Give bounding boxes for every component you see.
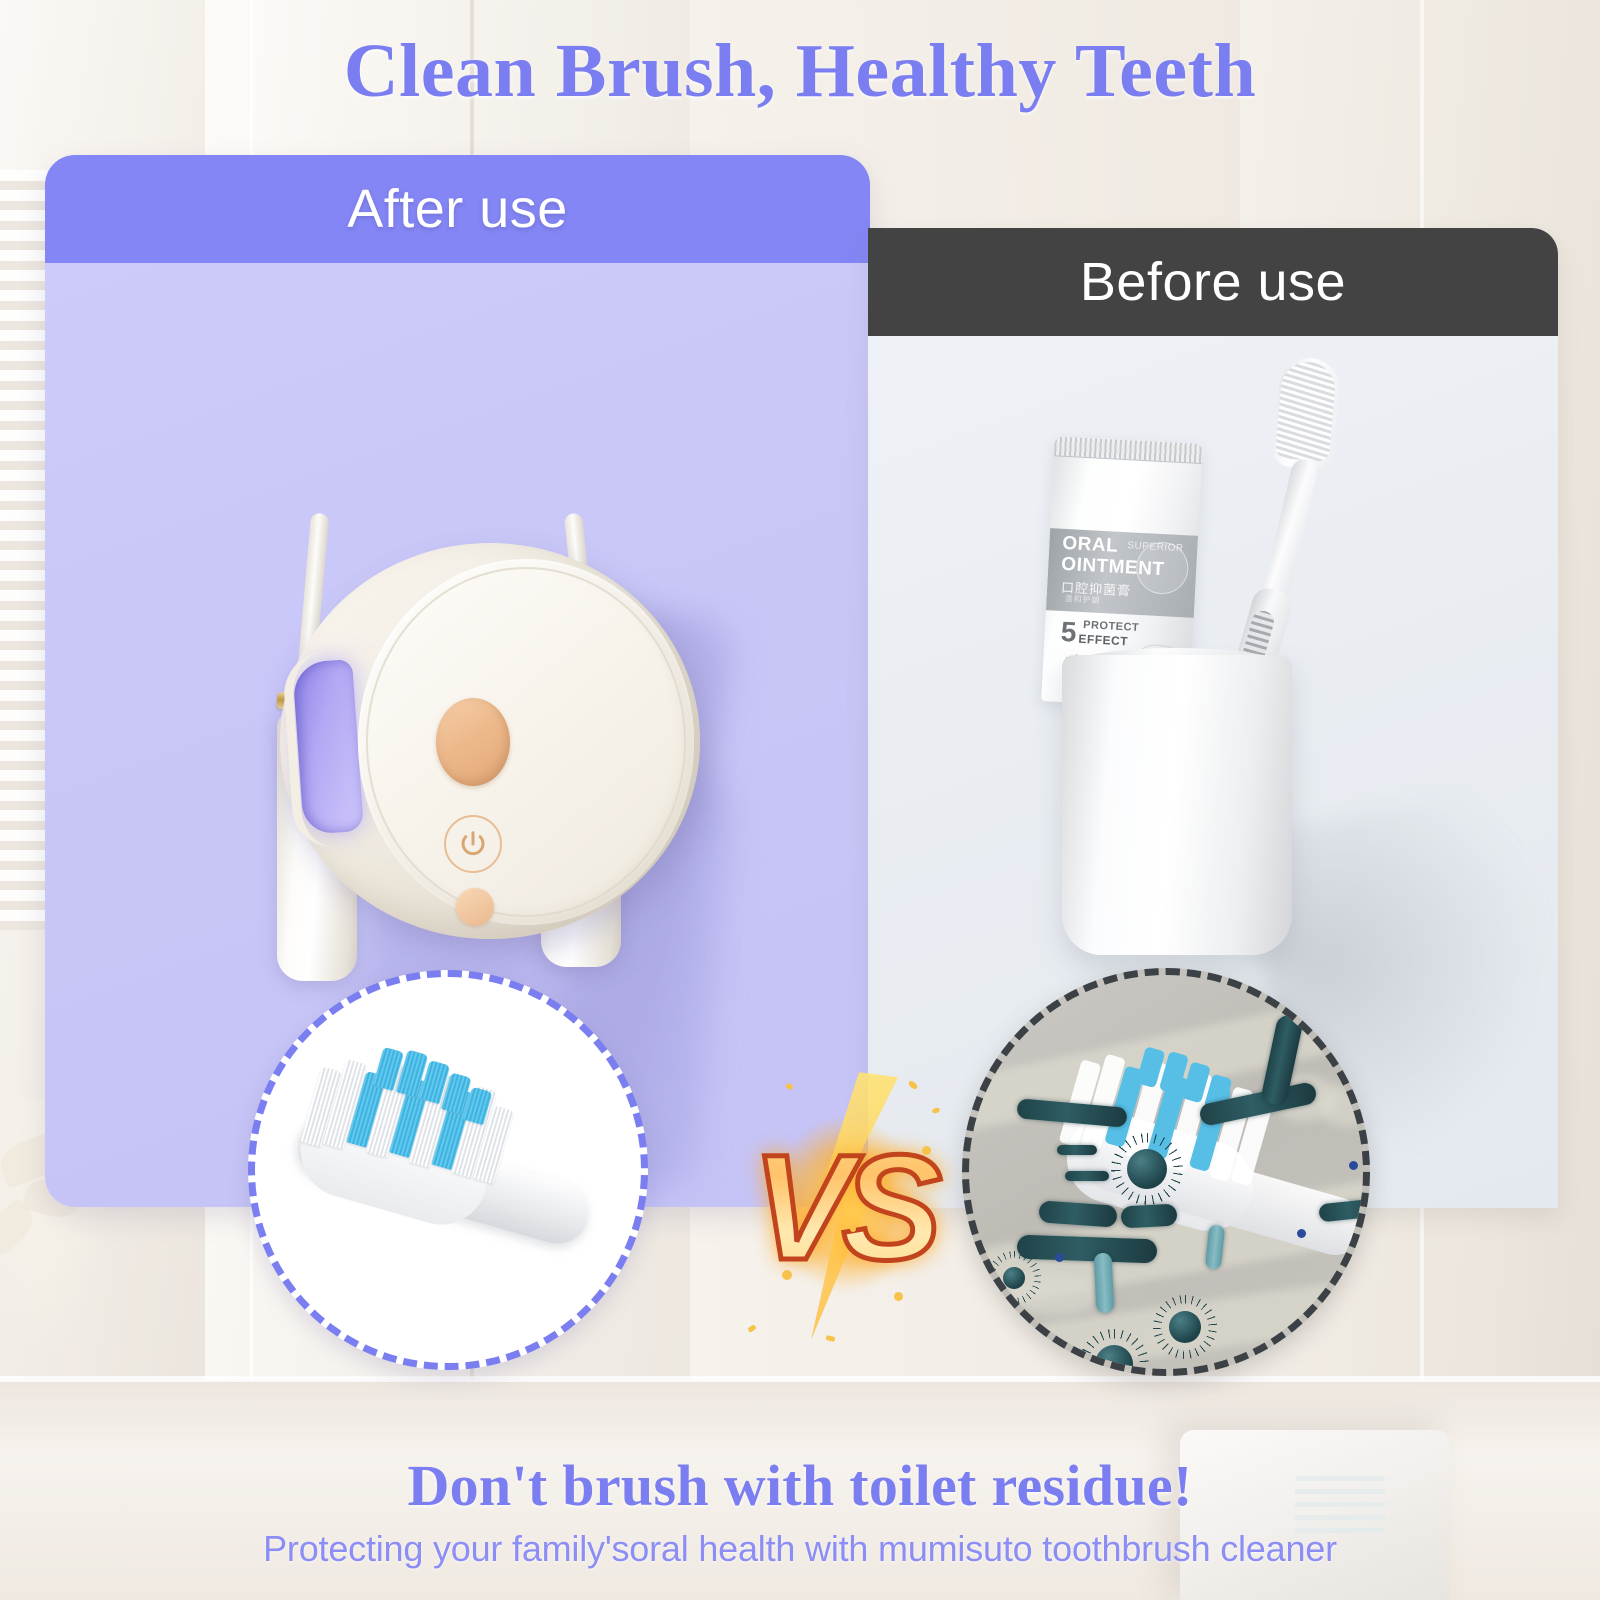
germ-icon [1127, 1149, 1167, 1189]
contaminated-brush-closeup [962, 968, 1370, 1376]
page-title: Clean Brush, Healthy Teeth [0, 28, 1600, 115]
toothbrush-cup [1062, 655, 1292, 955]
spark-particle [850, 1226, 856, 1232]
brush-neck [1260, 457, 1319, 609]
vs-badge: VS [726, 1060, 958, 1350]
brush-bristles [1275, 360, 1337, 462]
microscopy-texture [1319, 1085, 1370, 1127]
device-accent-oval [436, 698, 510, 786]
bacteria-rod [1093, 1253, 1114, 1314]
after-use-header: After use [45, 155, 870, 263]
bacteria-rod [1120, 1204, 1177, 1229]
before-use-header: Before use [868, 228, 1558, 336]
clean-brush-closeup [248, 970, 648, 1370]
tube-claim-number: 5 [1060, 619, 1077, 645]
germ-icon [1003, 1267, 1025, 1289]
spark-particle [922, 1146, 931, 1155]
after-use-label: After use [347, 178, 568, 240]
bacteria-rod [1017, 1235, 1158, 1264]
manual-toothbrush [1243, 358, 1363, 688]
bacteria-rod [1038, 1200, 1117, 1227]
before-use-label: Before use [1080, 251, 1346, 313]
spark-particle [826, 1335, 836, 1342]
spark-particle [782, 1270, 792, 1280]
power-icon[interactable] [444, 815, 502, 873]
footer-headline: Don't brush with toilet residue! [0, 1452, 1600, 1519]
bacteria-rod [1065, 1171, 1109, 1181]
microscopy-dot [1297, 1229, 1306, 1238]
uv-sterilizer-device [280, 543, 700, 943]
counter-edge [0, 1376, 1600, 1382]
germ-icon [1169, 1311, 1201, 1343]
tube-claim-word-2: EFFECT [1078, 632, 1128, 649]
spark-particle [894, 1292, 903, 1301]
device-face-rim [366, 567, 686, 917]
vs-label: VS [726, 1102, 958, 1312]
microscopy-dot [1349, 1161, 1358, 1170]
led-indicator-icon [456, 888, 494, 926]
footer-subline: Protecting your family'soral health with… [0, 1528, 1600, 1570]
bacteria-rod [1057, 1145, 1097, 1155]
microscopy-dot [1055, 1253, 1064, 1262]
tube-chinese-sub: 温和护龈 [1064, 593, 1101, 606]
